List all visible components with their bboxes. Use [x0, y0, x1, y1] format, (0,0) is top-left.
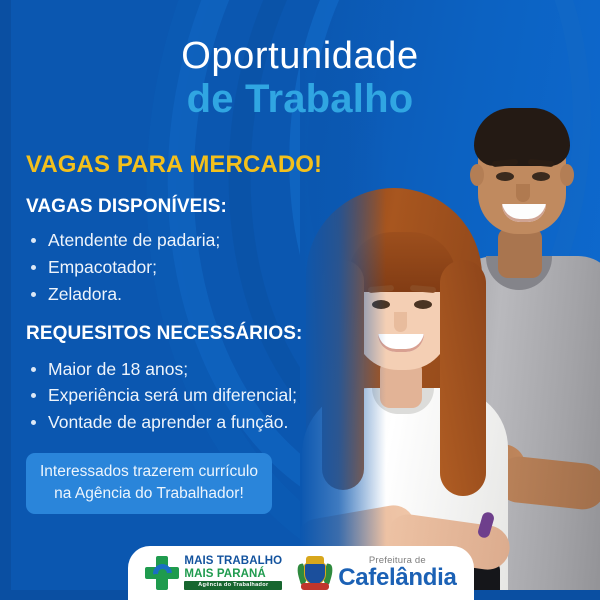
logo-mais-trabalho-mais-parana: MAIS TRABALHO MAIS PARANÁ Agência do Tra… — [145, 556, 282, 590]
man-eye-right — [532, 172, 550, 181]
man-eye-left — [496, 172, 514, 181]
coat-of-arms-icon — [298, 554, 332, 592]
logo-prefeitura-cafelandia: Prefeitura de Cafelândia — [298, 554, 456, 592]
title-line-2: de Trabalho — [0, 78, 600, 120]
woman-hair-side-right — [440, 260, 486, 496]
requisitos-list: Maior de 18 anos; Experiência será um di… — [26, 357, 378, 436]
list-item: Vontade de aprender a função. — [26, 410, 378, 435]
woman-nose — [394, 312, 407, 332]
title-line-1: Oportunidade — [0, 36, 600, 76]
footer-logo-bar: MAIS TRABALHO MAIS PARANÁ Agência do Tra… — [128, 546, 474, 600]
job-opportunity-poster: Oportunidade de Trabalho VAGAS PARA MERC… — [0, 0, 600, 600]
man-nose — [516, 184, 530, 202]
list-item: Empacotador; — [26, 255, 378, 280]
cross-swirl-icon — [145, 556, 179, 590]
man-ear-right — [560, 164, 574, 186]
city-name: Cafelândia — [338, 566, 456, 590]
kicker-heading: VAGAS PARA MERCADO! — [26, 152, 378, 178]
list-item: Maior de 18 anos; — [26, 357, 378, 382]
mais-trabalho-line-3: Agência do Trabalhador — [184, 581, 282, 590]
cta-line-2: na Agência do Trabalhador! — [54, 485, 244, 502]
poster-content: VAGAS PARA MERCADO! VAGAS DISPONÍVEIS: A… — [26, 152, 378, 514]
prefeitura-text: Prefeitura de Cafelândia — [338, 556, 456, 591]
list-item: Experiência será um diferencial; — [26, 383, 378, 408]
man-neck — [498, 228, 542, 278]
mais-trabalho-line-1: MAIS TRABALHO — [184, 556, 282, 568]
mais-trabalho-line-2: MAIS PARANÁ — [184, 569, 282, 581]
list-item: Zeladora. — [26, 282, 378, 307]
man-ear-left — [470, 164, 484, 186]
cta-line-1: Interessados trazerem currículo — [40, 463, 258, 480]
list-item: Atendente de padaria; — [26, 228, 378, 253]
poster-title: Oportunidade de Trabalho — [0, 36, 600, 121]
woman-eye-right — [414, 300, 432, 309]
mais-trabalho-text: MAIS TRABALHO MAIS PARANÁ Agência do Tra… — [184, 556, 282, 590]
requisitos-heading: REQUESITOS NECESSÁRIOS: — [26, 323, 378, 345]
vagas-heading: VAGAS DISPONÍVEIS: — [26, 196, 378, 218]
vagas-list: Atendente de padaria; Empacotador; Zelad… — [26, 228, 378, 307]
call-to-action-box: Interessados trazerem currículo na Agênc… — [26, 453, 272, 514]
